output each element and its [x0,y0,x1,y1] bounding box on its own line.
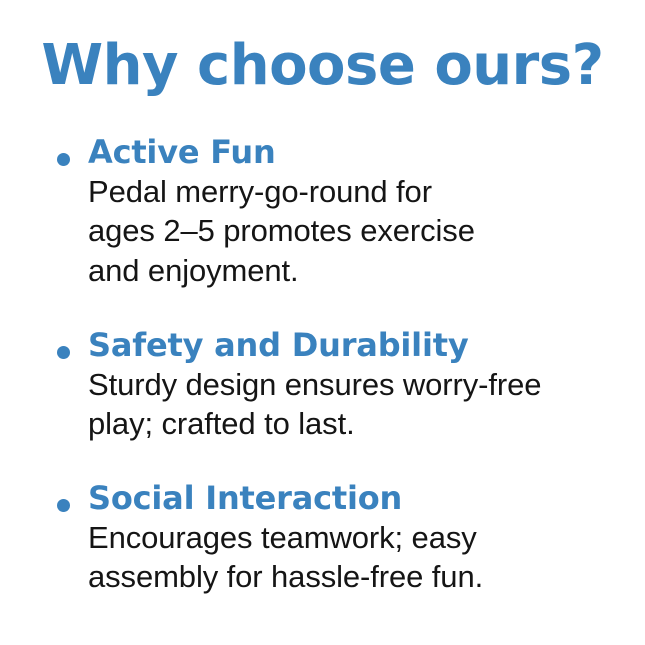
body-line: assembly for hassle-free fun. [88,557,645,597]
list-item: Safety and Durability Sturdy design ensu… [0,327,645,444]
page-title: Why choose ours? [0,0,645,94]
bullet-dot-icon [57,346,70,359]
body-line: and enjoyment. [88,251,645,291]
benefit-body-active-fun: Pedal merry-go-round for ages 2–5 promot… [88,172,645,291]
benefit-body-safety-and-durability: Sturdy design ensures worry-free play; c… [88,365,645,444]
body-line: Pedal merry-go-round for [88,172,645,212]
body-line: ages 2–5 promotes exercise [88,211,645,251]
bullet-dot-icon [57,499,70,512]
benefits-list: Active Fun Pedal merry-go-round for ages… [0,134,645,597]
bullet-dot-icon [57,153,70,166]
benefit-heading-active-fun: Active Fun [88,134,645,172]
list-item: Social Interaction Encourages teamwork; … [0,480,645,597]
body-line: play; crafted to last. [88,404,645,444]
body-line: Encourages teamwork; easy [88,518,645,558]
benefit-body-social-interaction: Encourages teamwork; easy assembly for h… [88,518,645,597]
body-line: Sturdy design ensures worry-free [88,365,645,405]
benefits-slide: Why choose ours? Active Fun Pedal merry-… [0,0,645,645]
list-item: Active Fun Pedal merry-go-round for ages… [0,134,645,291]
benefit-heading-safety-and-durability: Safety and Durability [88,327,645,365]
benefit-heading-social-interaction: Social Interaction [88,480,645,518]
